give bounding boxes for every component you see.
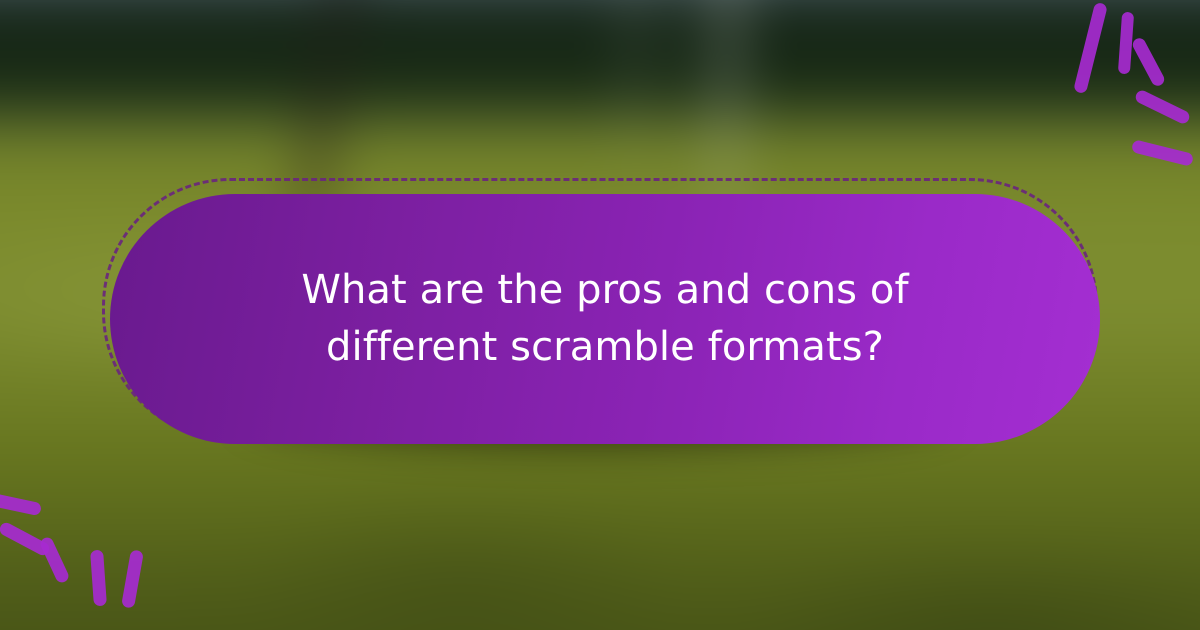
question-card[interactable]: What are the pros and cons of different … — [110, 194, 1100, 444]
burst-ray — [121, 549, 144, 608]
radial-burst-top-right-icon — [1048, 0, 1200, 190]
burst-ray — [38, 536, 70, 585]
question-title: What are the pros and cons of different … — [225, 262, 985, 376]
burst-ray — [1131, 36, 1167, 88]
question-card-container: What are the pros and cons of different … — [100, 178, 1100, 450]
radial-burst-bottom-left-icon — [8, 462, 168, 630]
burst-ray — [90, 550, 107, 607]
share-card-canvas: What are the pros and cons of different … — [0, 0, 1200, 630]
burst-ray — [1134, 88, 1192, 125]
burst-ray — [1131, 139, 1194, 167]
burst-ray — [1073, 2, 1108, 94]
